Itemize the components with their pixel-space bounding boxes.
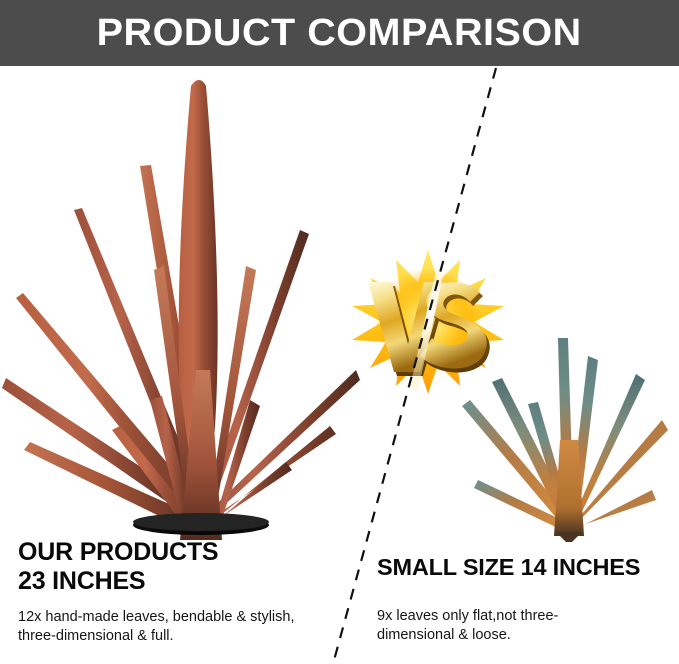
small-product-heading-line1: SMALL SIZE 14 INCHES [377,554,669,581]
small-product-body-line1: 9x leaves only flat,not three- [377,607,669,626]
agave-base-plate [133,513,269,535]
our-product-caption: OUR PRODUCTS 23 INCHES 12x hand-made lea… [18,538,338,647]
large-agave-illustration [0,70,370,540]
small-agave-base [556,532,582,542]
our-product-image [0,70,370,540]
vs-badge [348,248,508,396]
page-title: PRODUCT COMPARISON [97,14,582,52]
product-comparison-image: PRODUCT COMPARISON [0,0,679,664]
our-product-body-line2: three-dimensional & full. [18,627,338,646]
small-product-caption: SMALL SIZE 14 INCHES 9x leaves only flat… [377,554,669,645]
our-product-body-line1: 12x hand-made leaves, bendable & stylish… [18,608,338,627]
small-product-body-line2: dimensional & loose. [377,626,669,645]
header-bar: PRODUCT COMPARISON [0,0,679,66]
our-product-heading-line2: 23 INCHES [18,567,338,596]
our-product-heading-line1: OUR PRODUCTS [18,538,338,567]
